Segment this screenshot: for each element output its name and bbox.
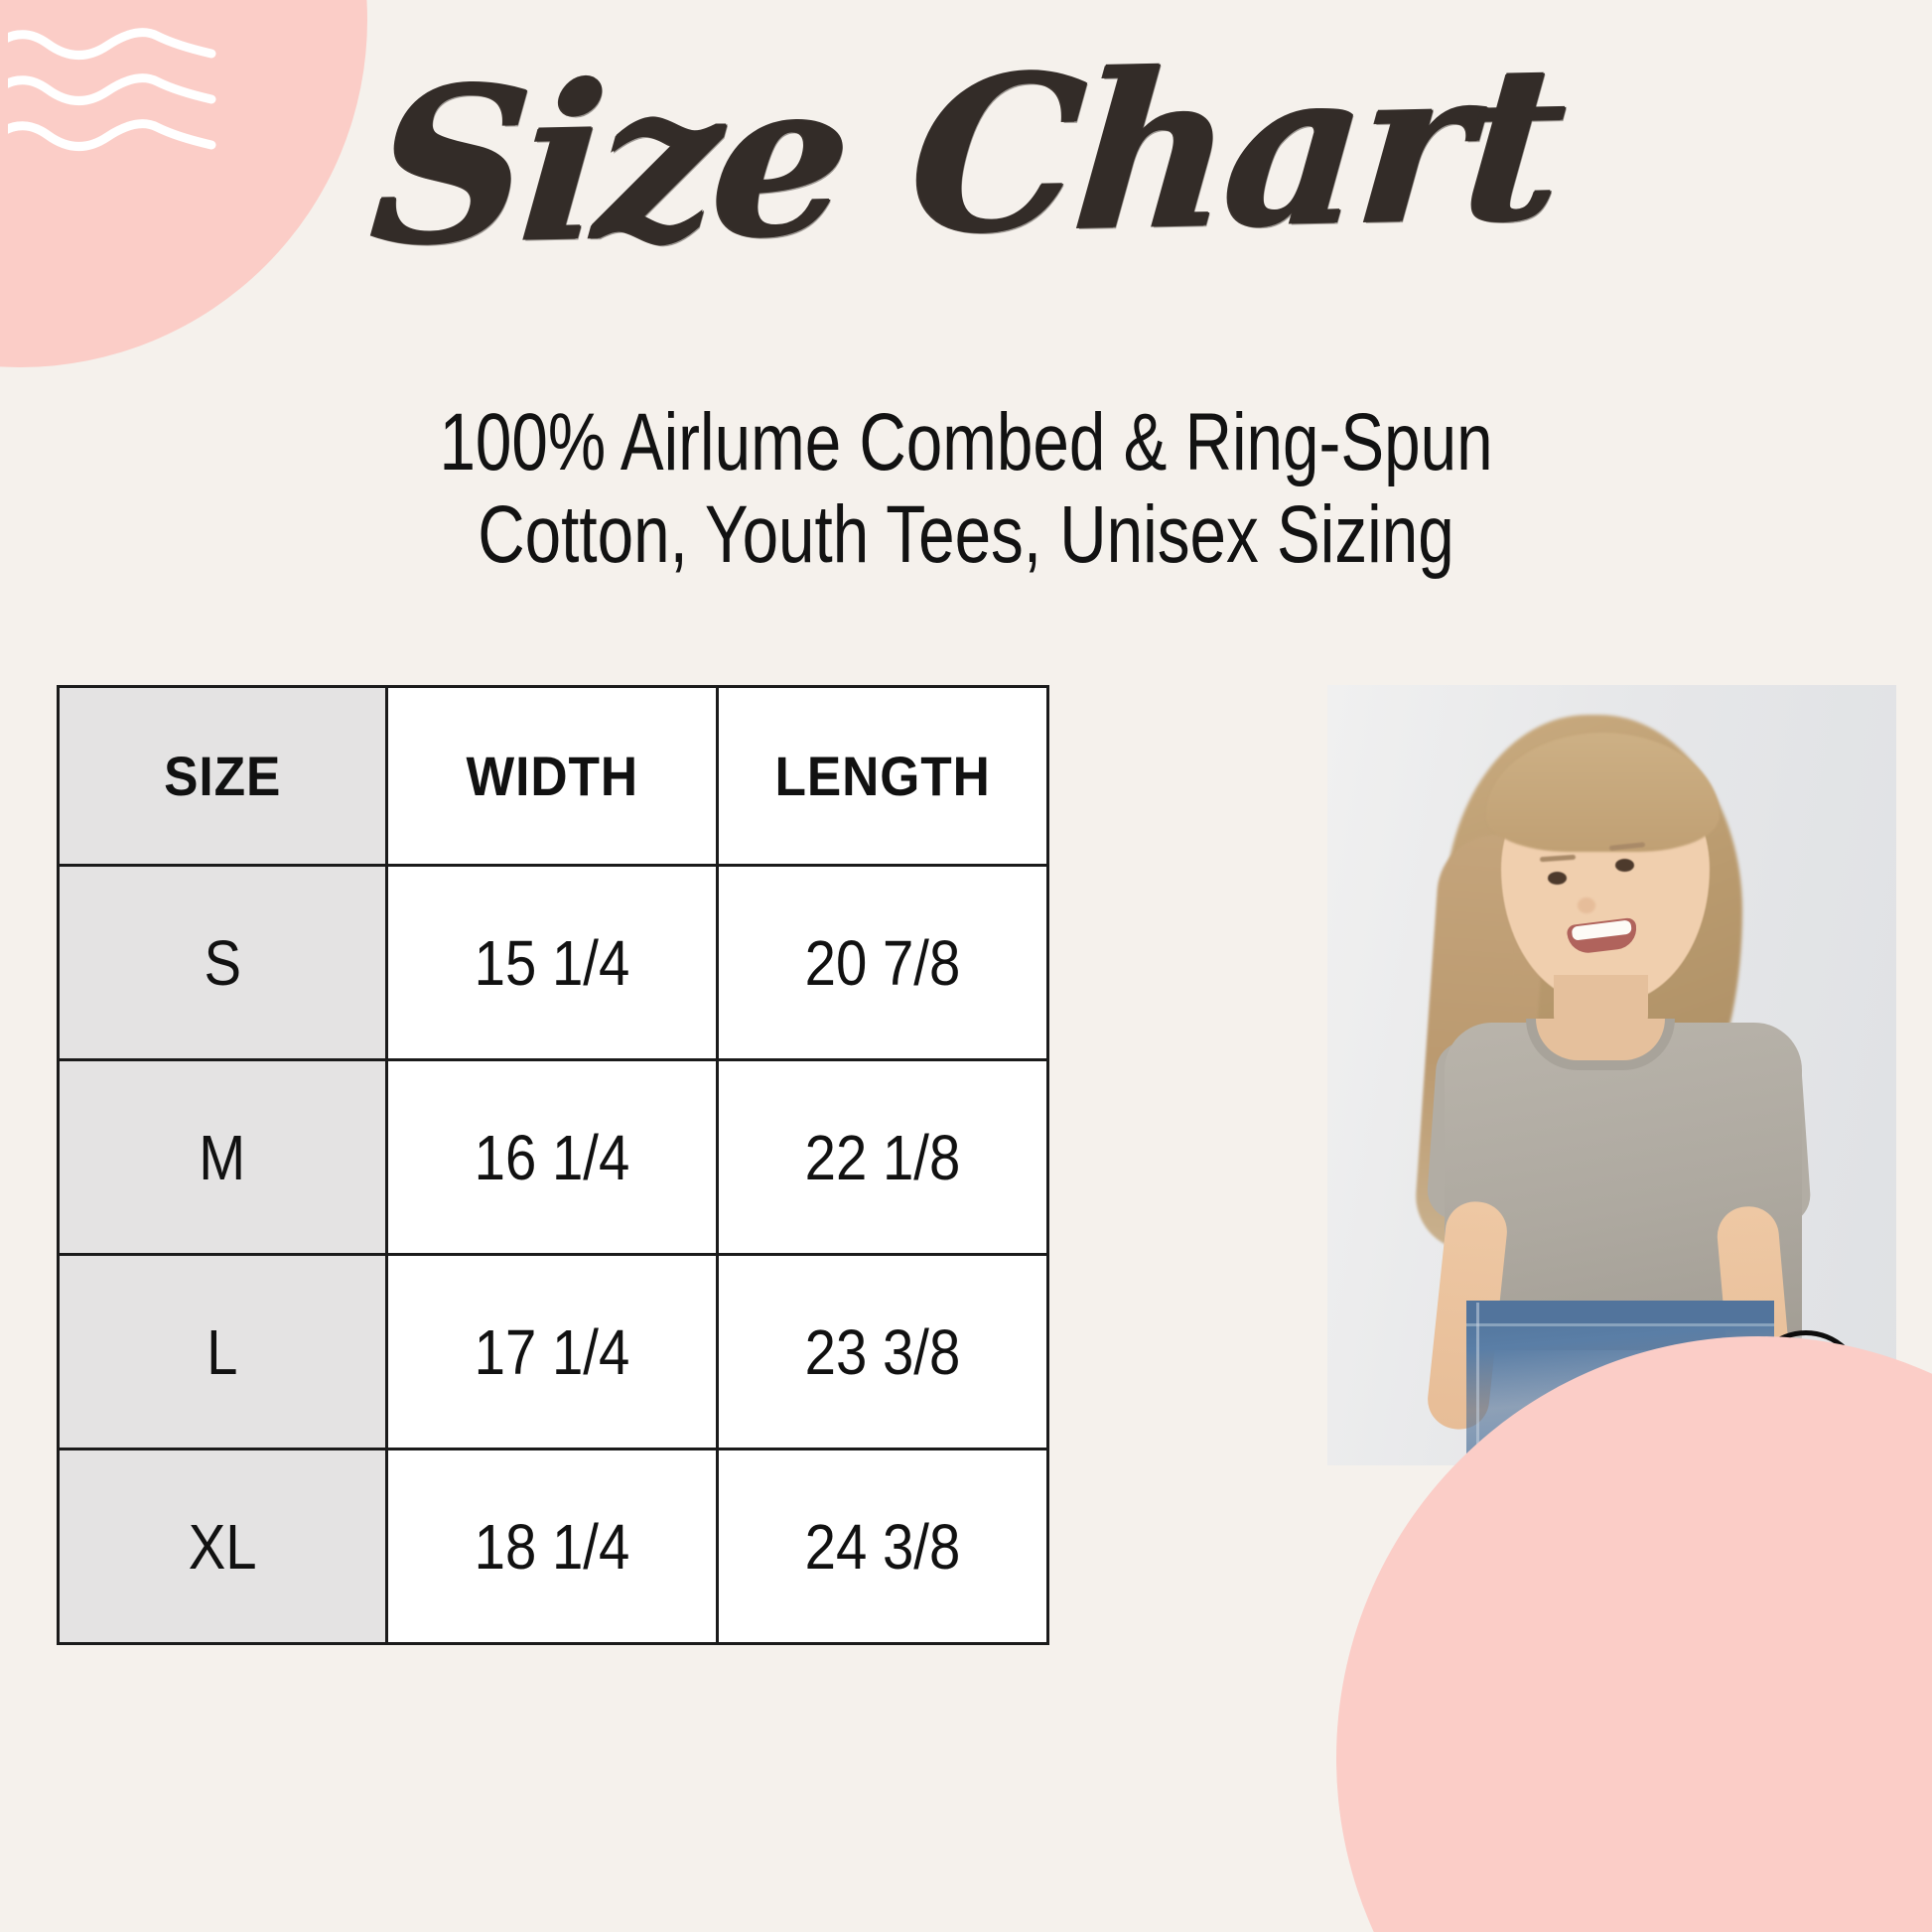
cell-size-value: XL xyxy=(189,1510,257,1584)
cell-width: 16 1/4 xyxy=(387,1060,718,1255)
photo-nose xyxy=(1578,897,1595,913)
photo-eye-right xyxy=(1615,859,1634,872)
table-row: XL 18 1/4 24 3/8 xyxy=(59,1449,1048,1644)
column-header-size: SIZE xyxy=(59,687,387,866)
cell-width: 18 1/4 xyxy=(387,1449,718,1644)
photo-skirt-waistband xyxy=(1466,1301,1774,1326)
cell-width-value: 17 1/4 xyxy=(475,1315,630,1389)
cell-size-value: S xyxy=(204,926,241,1000)
size-chart-table-wrapper: SIZE WIDTH LENGTH S 15 1/4 20 7/8 xyxy=(57,685,1049,1645)
column-header-width: WIDTH xyxy=(387,687,718,866)
cell-length-value: 24 3/8 xyxy=(805,1510,961,1584)
column-header-length-label: LENGTH xyxy=(774,744,990,808)
photo-teeth xyxy=(1572,919,1632,940)
cell-width-value: 15 1/4 xyxy=(475,926,630,1000)
cell-size: L xyxy=(59,1255,387,1449)
product-description: 100% Airlume Combed & Ring-Spun Cotton, … xyxy=(241,397,1692,581)
cell-length: 22 1/8 xyxy=(717,1060,1047,1255)
cell-length: 23 3/8 xyxy=(717,1255,1047,1449)
table-row: S 15 1/4 20 7/8 xyxy=(59,866,1048,1060)
cell-width: 15 1/4 xyxy=(387,866,718,1060)
size-chart-table: SIZE WIDTH LENGTH S 15 1/4 20 7/8 xyxy=(57,685,1049,1645)
page-title-text: Size Chart xyxy=(365,36,1567,274)
cell-width-value: 16 1/4 xyxy=(475,1121,630,1194)
cell-width-value: 18 1/4 xyxy=(475,1510,630,1584)
cell-size-value: L xyxy=(207,1315,237,1389)
cell-length-value: 23 3/8 xyxy=(805,1315,961,1389)
table-row: M 16 1/4 22 1/8 xyxy=(59,1060,1048,1255)
cell-size: M xyxy=(59,1060,387,1255)
column-header-size-label: SIZE xyxy=(164,744,281,808)
page-title: Size Chart xyxy=(0,48,1932,261)
cell-width: 17 1/4 xyxy=(387,1255,718,1449)
cell-length-value: 22 1/8 xyxy=(805,1121,961,1194)
cell-size-value: M xyxy=(200,1121,246,1194)
column-header-width-label: WIDTH xyxy=(466,744,637,808)
table-row: L 17 1/4 23 3/8 xyxy=(59,1255,1048,1449)
cell-length: 24 3/8 xyxy=(717,1449,1047,1644)
cell-length-value: 20 7/8 xyxy=(805,926,961,1000)
cell-size: S xyxy=(59,866,387,1060)
cell-length: 20 7/8 xyxy=(717,866,1047,1060)
column-header-length: LENGTH xyxy=(717,687,1047,866)
cell-size: XL xyxy=(59,1449,387,1644)
photo-eye-left xyxy=(1548,872,1567,885)
table-header-row: SIZE WIDTH LENGTH xyxy=(59,687,1048,866)
